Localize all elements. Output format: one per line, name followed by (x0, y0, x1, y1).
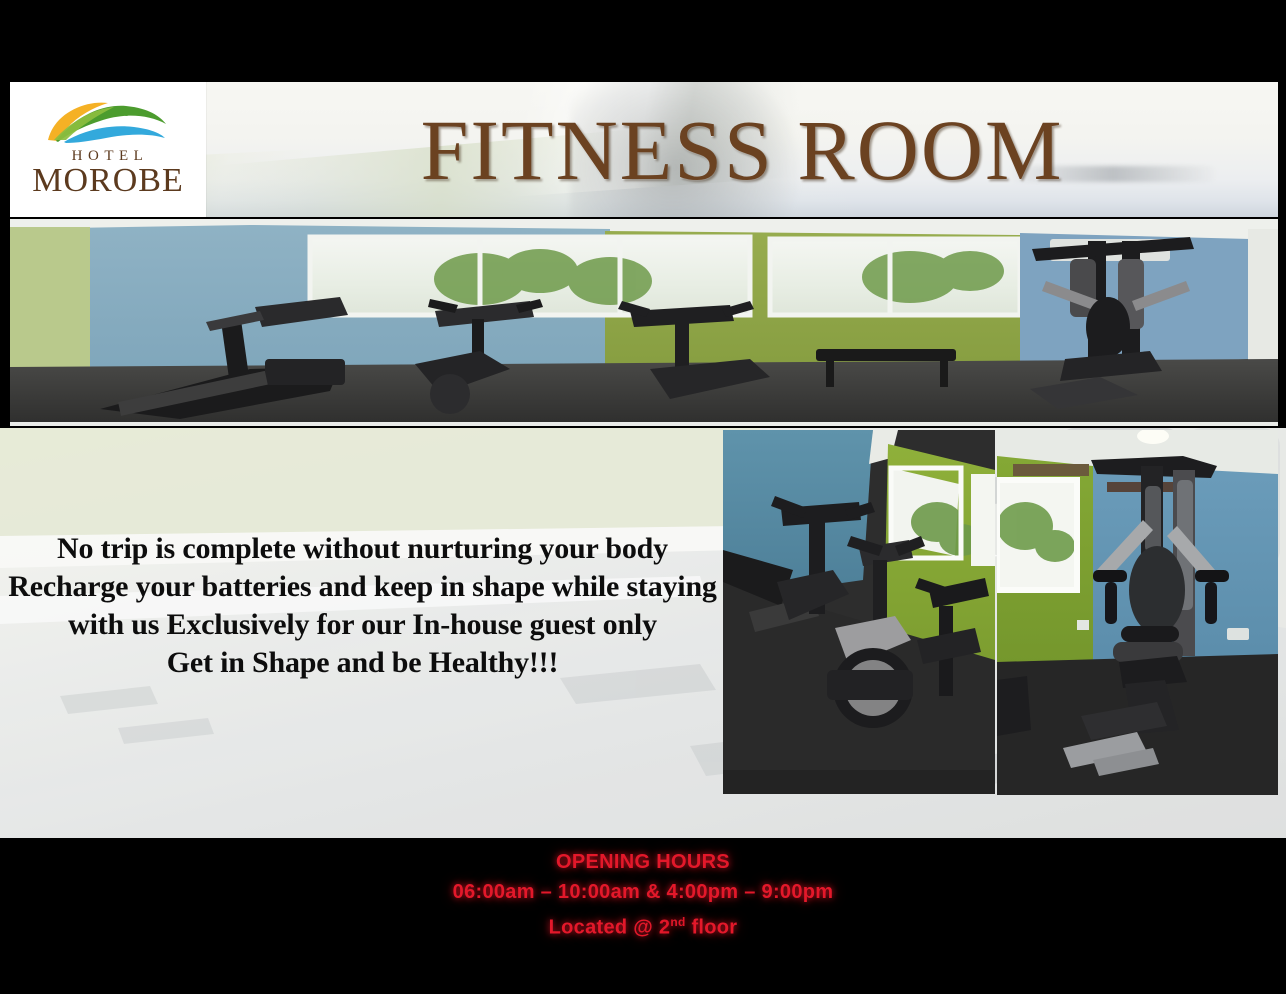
footer-opening-hours: OPENING HOURS 06:00am – 10:00am & 4:00pm… (0, 838, 1286, 994)
location-ordinal-suffix: nd (670, 915, 685, 929)
tagline-block: No trip is complete without nurturing yo… (0, 530, 725, 682)
hotel-logo: HOTEL MOROBE (10, 82, 206, 217)
tagline-line-4: Get in Shape and be Healthy!!! (0, 644, 725, 682)
tagline-line-1: No trip is complete without nurturing yo… (0, 530, 725, 568)
location-line: Located @ 2nd floor (549, 907, 738, 943)
bikes-illustration (723, 430, 995, 794)
gym-photo-multigym (997, 430, 1278, 795)
opening-hours-times: 06:00am – 10:00am & 4:00pm – 9:00pm (453, 877, 834, 907)
panorama-illustration (10, 219, 1278, 426)
gym-photo-bikes (723, 430, 995, 794)
tagline-line-2: Recharge your batteries and keep in shap… (0, 568, 725, 606)
location-prefix: Located @ 2 (549, 917, 671, 939)
opening-hours-heading: OPENING HOURS (556, 847, 730, 877)
panorama-photo (10, 219, 1278, 426)
location-suffix: floor (686, 917, 738, 939)
hotel-morobe-swoosh-logo-icon (44, 100, 172, 146)
page-title: FITNESS ROOM (206, 82, 1278, 217)
poster-header: HOTEL MOROBE FITNESS ROOM (10, 82, 1278, 217)
multigym-illustration (997, 430, 1278, 795)
tagline-line-3: with us Exclusively for our In-house gue… (0, 606, 725, 644)
poster-root: HOTEL MOROBE FITNESS ROOM (0, 0, 1286, 994)
logo-morobe-word: MOROBE (32, 163, 183, 199)
